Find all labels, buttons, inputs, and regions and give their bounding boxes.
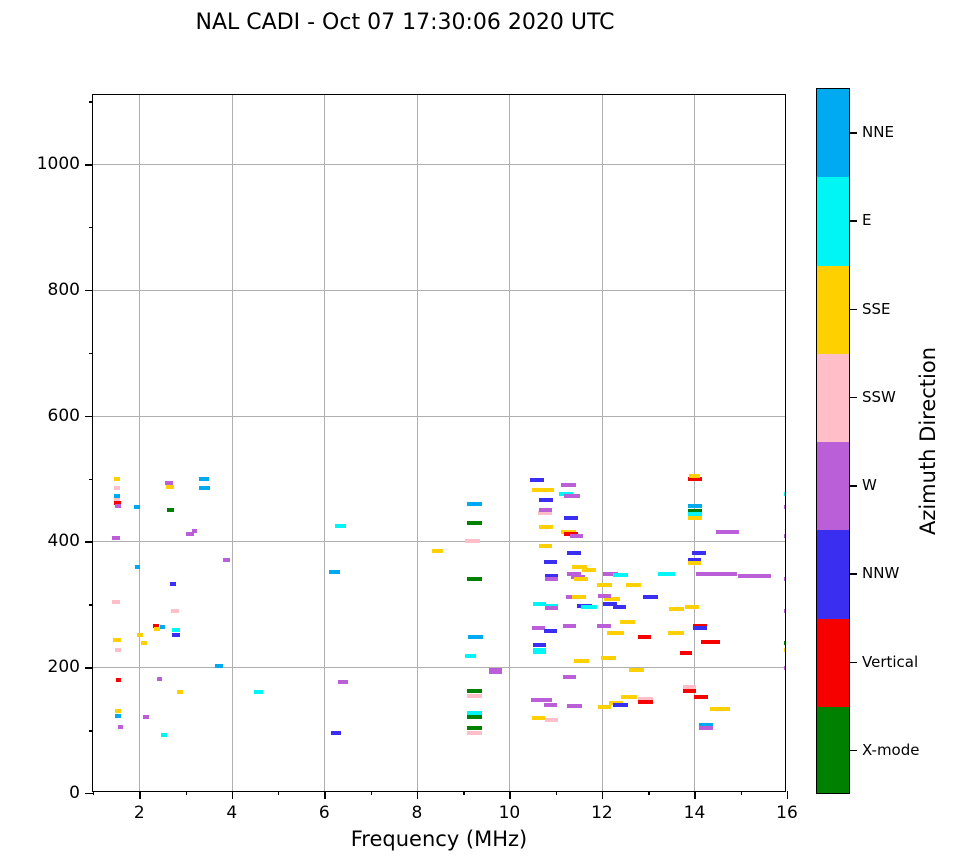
data-mark [467, 689, 482, 693]
data-mark [784, 534, 785, 538]
data-mark [784, 609, 785, 613]
data-mark [467, 502, 482, 506]
data-mark [172, 633, 179, 637]
data-mark [467, 715, 482, 719]
data-mark [465, 539, 480, 543]
data-mark [784, 505, 785, 509]
data-mark [701, 640, 720, 644]
data-mark [693, 626, 707, 630]
x-tick-minor [741, 791, 742, 795]
data-mark [574, 577, 588, 581]
data-mark [157, 677, 163, 681]
data-mark [545, 718, 558, 722]
colorbar-tick [850, 485, 857, 486]
colorbar-tick [850, 397, 857, 398]
data-mark [544, 703, 557, 707]
data-mark [696, 572, 738, 576]
data-mark [467, 577, 482, 581]
y-tick-minor [89, 479, 93, 480]
data-mark [784, 577, 785, 581]
data-mark [784, 492, 785, 496]
x-tick [139, 791, 140, 799]
data-mark [432, 549, 443, 553]
data-mark [467, 711, 482, 715]
x-tick [787, 791, 788, 799]
gridline-horizontal [93, 416, 785, 417]
y-tick-minor [89, 353, 93, 354]
data-mark [598, 594, 611, 598]
data-mark [699, 726, 713, 730]
colorbar-segment-x-mode [817, 707, 849, 794]
data-mark [530, 478, 544, 482]
x-tick-label: 8 [411, 803, 422, 823]
data-mark [567, 704, 582, 708]
y-tick-label: 400 [48, 531, 80, 551]
data-mark [114, 494, 120, 498]
gridline-vertical [602, 95, 603, 791]
data-mark [613, 605, 627, 609]
x-tick-label: 2 [134, 803, 145, 823]
data-mark [564, 516, 579, 520]
data-mark [468, 635, 483, 639]
data-mark [329, 570, 339, 574]
x-tick [232, 791, 233, 799]
data-mark [113, 638, 121, 642]
data-mark [137, 633, 143, 637]
data-mark [112, 600, 119, 604]
data-mark [141, 641, 147, 645]
data-mark [694, 695, 708, 699]
y-tick-label: 200 [48, 657, 80, 677]
data-mark [688, 504, 702, 508]
data-mark [738, 574, 770, 578]
x-tick-minor [93, 791, 94, 795]
x-tick-minor [556, 791, 557, 795]
gridline-vertical [232, 95, 233, 791]
data-mark [165, 481, 172, 485]
data-mark [561, 483, 576, 487]
plot-area: 02004006008001000 246810121416 [92, 94, 786, 792]
data-mark [563, 624, 577, 628]
x-tick-label: 10 [499, 803, 521, 823]
data-mark [581, 605, 597, 609]
colorbar-title: Azimuth Direction [916, 347, 940, 535]
data-mark [335, 524, 345, 528]
data-mark [669, 607, 684, 611]
data-mark [658, 572, 675, 576]
data-mark [116, 678, 122, 682]
data-mark [171, 609, 178, 613]
x-tick-minor [371, 791, 372, 795]
data-mark [597, 624, 611, 628]
data-mark [574, 659, 589, 663]
data-mark [172, 628, 179, 632]
data-mark [784, 641, 785, 645]
colorbar-tick [850, 220, 857, 221]
gridline-horizontal [93, 290, 785, 291]
data-mark [166, 485, 174, 489]
data-mark [544, 560, 557, 564]
data-mark [545, 606, 558, 610]
data-mark [115, 648, 121, 652]
data-mark [467, 731, 482, 735]
data-mark [143, 715, 149, 719]
data-mark [620, 620, 635, 624]
data-mark [621, 695, 637, 699]
data-mark [597, 583, 612, 587]
colorbar-label-nne: NNE [862, 123, 894, 141]
data-mark [532, 626, 545, 630]
y-tick [85, 416, 93, 417]
data-mark [489, 670, 502, 674]
plot-canvas [93, 95, 785, 791]
colorbar-segment-w [817, 442, 849, 531]
data-mark [544, 629, 557, 633]
data-mark [170, 582, 176, 586]
data-mark [254, 690, 263, 694]
data-mark [643, 595, 659, 599]
data-mark [118, 725, 123, 729]
data-mark [570, 534, 584, 538]
data-mark [668, 631, 684, 635]
data-mark [710, 707, 729, 711]
data-mark [160, 625, 166, 629]
data-mark [688, 561, 701, 565]
x-tick-label: 12 [591, 803, 613, 823]
data-mark [533, 650, 546, 654]
data-mark [613, 573, 629, 577]
colorbar-label-ssw: SSW [862, 388, 896, 406]
y-tick [85, 164, 93, 165]
x-tick [509, 791, 510, 799]
y-tick-label: 600 [48, 406, 80, 426]
data-mark [467, 726, 482, 730]
colorbar-tick [850, 132, 857, 133]
colorbar-label-nnw: NNW [862, 564, 899, 582]
data-mark [582, 568, 596, 572]
x-tick-label: 6 [319, 803, 330, 823]
data-mark [215, 664, 223, 668]
data-mark [532, 488, 554, 492]
colorbar [816, 88, 850, 794]
colorbar-segment-nnw [817, 530, 849, 619]
data-mark [532, 716, 545, 720]
y-tick-label: 1000 [37, 154, 80, 174]
ionogram-page: NAL CADI - Oct 07 17:30:06 2020 UTC 0200… [0, 0, 958, 857]
y-tick-label: 0 [69, 783, 80, 803]
x-tick-label: 4 [226, 803, 237, 823]
y-tick [85, 667, 93, 668]
data-mark [689, 474, 699, 478]
colorbar-label-e: E [862, 211, 871, 229]
y-tick [85, 290, 93, 291]
data-mark [192, 529, 198, 533]
x-tick-label: 16 [776, 803, 798, 823]
colorbar-segment-vertical [817, 619, 849, 708]
gridline-vertical [417, 95, 418, 791]
data-mark [638, 635, 651, 639]
data-mark [467, 694, 482, 698]
data-mark [161, 733, 167, 737]
x-tick-minor [463, 791, 464, 795]
data-mark [638, 700, 653, 704]
data-mark [135, 565, 141, 569]
y-tick-minor [89, 730, 93, 731]
y-tick-minor [89, 604, 93, 605]
data-mark [338, 680, 348, 684]
data-mark [531, 698, 552, 702]
colorbar-segment-e [817, 177, 849, 266]
y-tick-minor [89, 101, 93, 102]
y-tick-minor [89, 227, 93, 228]
data-mark [598, 705, 611, 709]
data-mark [607, 631, 624, 635]
data-mark [688, 516, 702, 520]
x-tick [324, 791, 325, 799]
x-tick [694, 791, 695, 799]
colorbar-segment-ssw [817, 354, 849, 443]
data-mark [539, 498, 553, 502]
x-tick [602, 791, 603, 799]
y-tick [85, 793, 93, 794]
data-mark [114, 486, 120, 490]
data-mark [567, 551, 581, 555]
colorbar-segment-nne [817, 89, 849, 178]
data-mark [784, 666, 785, 670]
data-mark [539, 508, 553, 512]
data-mark [683, 689, 696, 693]
data-mark [465, 654, 476, 658]
x-tick-minor [648, 791, 649, 795]
colorbar-segment-sse [817, 266, 849, 355]
data-mark [601, 656, 616, 660]
y-tick-label: 800 [48, 280, 80, 300]
gridline-vertical [324, 95, 325, 791]
data-mark [115, 709, 120, 713]
data-mark [572, 595, 586, 599]
data-mark [112, 536, 119, 540]
data-mark [199, 486, 209, 490]
data-mark [223, 558, 230, 562]
x-tick-minor [186, 791, 187, 795]
x-tick-minor [278, 791, 279, 795]
data-mark [115, 714, 120, 718]
data-mark [533, 643, 546, 647]
y-tick [85, 541, 93, 542]
gridline-horizontal [93, 667, 785, 668]
colorbar-tick [850, 662, 857, 663]
data-mark [167, 508, 174, 512]
page-title: NAL CADI - Oct 07 17:30:06 2020 UTC [0, 10, 810, 35]
colorbar-label-vertical: Vertical [862, 653, 918, 671]
data-mark [784, 648, 785, 652]
data-mark [199, 477, 209, 481]
colorbar-label-w: W [862, 476, 877, 494]
data-mark [331, 731, 340, 735]
data-mark [115, 504, 121, 508]
colorbar-label-x-mode: X-mode [862, 741, 919, 759]
data-mark [626, 583, 642, 587]
gridline-vertical [139, 95, 140, 791]
data-mark [680, 651, 692, 655]
gridline-horizontal [93, 541, 785, 542]
data-mark [563, 675, 577, 679]
x-axis-label: Frequency (MHz) [351, 827, 527, 851]
data-mark [629, 668, 645, 672]
x-tick-label: 14 [684, 803, 706, 823]
gridline-horizontal [93, 164, 785, 165]
data-mark [613, 703, 628, 707]
colorbar-tick [850, 750, 857, 751]
data-mark [604, 597, 621, 601]
data-mark [564, 494, 580, 498]
data-mark [539, 525, 553, 529]
data-mark [467, 521, 482, 525]
data-mark [685, 605, 699, 609]
colorbar-tick [850, 309, 857, 310]
data-mark [545, 577, 558, 581]
data-mark [134, 505, 140, 509]
data-mark [177, 690, 183, 694]
colorbar-tick [850, 573, 857, 574]
x-tick [417, 791, 418, 799]
data-mark [539, 544, 553, 548]
data-mark [114, 477, 120, 481]
colorbar-label-sse: SSE [862, 300, 891, 318]
data-mark [692, 551, 706, 555]
gridline-vertical [509, 95, 510, 791]
data-mark [716, 530, 739, 534]
